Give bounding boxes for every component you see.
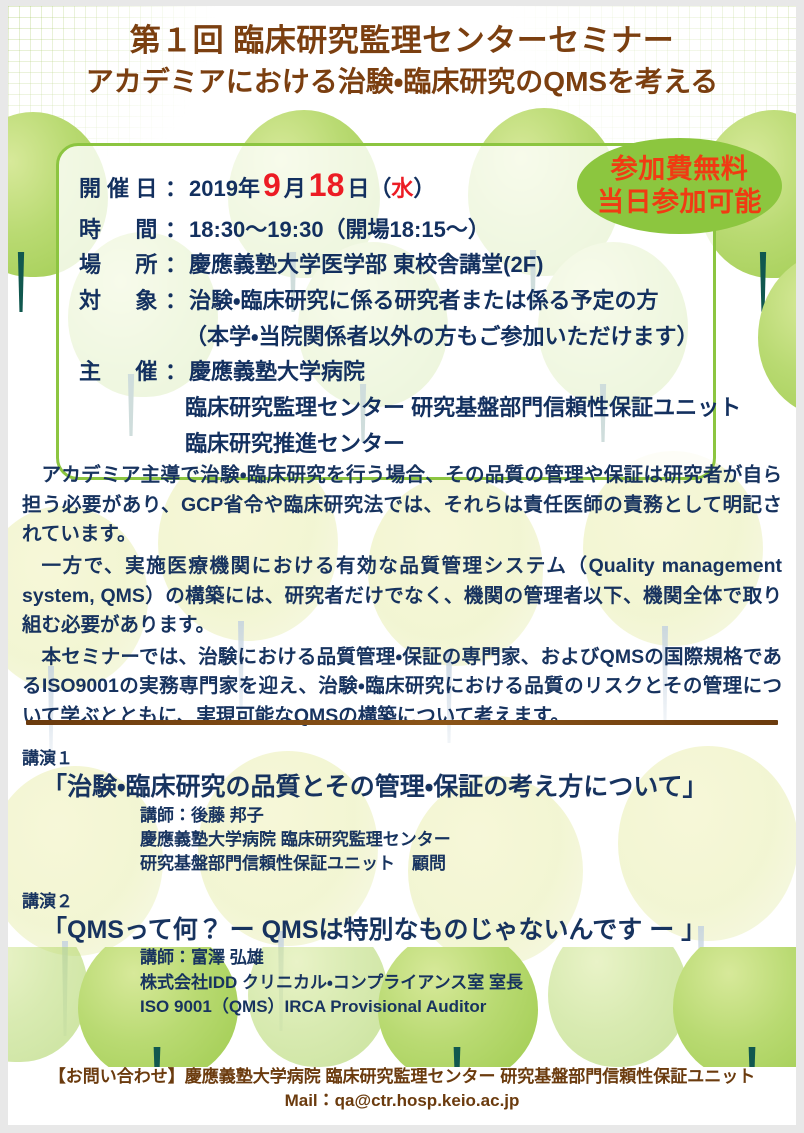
info-label-organizer: 主 催 xyxy=(79,354,165,390)
abstract-paragraph-2: 一方で、実施医療機関における有効な品質管理システム（Quality manage… xyxy=(22,552,782,641)
info-row-organizer: 主 催 ： 慶應義塾大学病院 xyxy=(59,354,713,390)
lecture-2-speaker: 講師：富澤 弘雄 xyxy=(22,946,782,970)
lecture-item-2: 講演２ 「QMSって何？ ー QMSは特別なものじゃないんです ー 」 講師：富… xyxy=(22,887,782,1020)
info-value-organizer: 慶應義塾大学病院 xyxy=(189,354,365,390)
page-subtitle: アカデミアにおける治験・臨床研究のQMSを考える xyxy=(8,65,796,99)
abstract-section: アカデミア主導で治験・臨床研究を行う場合、その品質の管理や保証は研究者が自ら担う… xyxy=(22,461,782,734)
info-value-month-number: 9 xyxy=(260,160,284,212)
info-colon-organizer: ： xyxy=(165,354,187,390)
info-value-place: 慶應義塾大学医学部 東校舎講堂(2F) xyxy=(189,247,543,283)
info-value-time: 18:30〜19:30（開場18:15〜） xyxy=(189,212,490,248)
free-admission-badge: 参加費無料 当日参加可能 xyxy=(577,138,782,234)
lecture-item-1: 講演１ 「治験・臨床研究の品質とその管理・保証の考え方について」 講師：後藤 邦… xyxy=(22,744,782,877)
info-label-date: 開催日 xyxy=(79,171,165,207)
lecture-1-speaker: 講師：後藤 邦子 xyxy=(22,804,782,828)
info-row-audience: 対 象 ： 治験・臨床研究に係る研究者または係る予定の方 xyxy=(59,283,713,319)
info-value-weekday: 水 xyxy=(391,171,413,207)
info-weekday-close: ） xyxy=(413,171,435,207)
footer-contact-line: 【お問い合わせ】慶應義塾大学病院 臨床研究監理センター 研究基盤部門信頼性保証ユ… xyxy=(8,1065,796,1089)
lecture-2-affiliation-2: ISO 9001（QMS）IRCA Provisional Auditor xyxy=(22,995,782,1019)
section-divider xyxy=(26,720,778,725)
info-colon-date: ： xyxy=(165,171,187,207)
abstract-paragraph-3: 本セミナーでは、治験における品質管理・保証の専門家、およびQMSの国際規格である… xyxy=(22,643,782,732)
info-weekday-open: （ xyxy=(369,171,391,207)
lecture-1-affiliation-1: 慶應義塾大学病院 臨床研究監理センター xyxy=(22,828,782,852)
title-block: 第１回 臨床研究監理センターセミナー アカデミアにおける治験・臨床研究のQMSを… xyxy=(8,22,796,99)
lecture-spacer xyxy=(22,877,782,887)
badge-line-fee: 参加費無料 xyxy=(611,153,749,186)
flyer-page: 第１回 臨床研究監理センターセミナー アカデミアにおける治験・臨床研究のQMSを… xyxy=(0,0,804,1133)
page-title: 第１回 臨床研究監理センターセミナー xyxy=(8,22,796,59)
info-colon-place: ： xyxy=(165,247,187,283)
info-label-time: 時 間 xyxy=(79,212,165,248)
info-value-day-number: 18 xyxy=(306,160,348,212)
lectures-section: 講演１ 「治験・臨床研究の品質とその管理・保証の考え方について」 講師：後藤 邦… xyxy=(22,744,782,1020)
info-value-organizer-2: 臨床研究監理センター 研究基盤部門信頼性保証ユニット xyxy=(185,390,741,426)
info-row-audience-note: （本学・当院関係者以外の方もご参加いただけます） xyxy=(59,319,713,355)
badge-line-walkin: 当日参加可能 xyxy=(597,186,762,219)
lecture-1-affiliation-2: 研究基盤部門信頼性保証ユニット 顧問 xyxy=(22,852,782,876)
info-row-place: 場 所 ： 慶應義塾大学医学部 東校舎講堂(2F) xyxy=(59,247,713,283)
info-value-year: 2019年 xyxy=(189,171,260,207)
lecture-1-title: 「治験・臨床研究の品質とその管理・保証の考え方について」 xyxy=(22,771,782,804)
footer-contact: 【お問い合わせ】慶應義塾大学病院 臨床研究監理センター 研究基盤部門信頼性保証ユ… xyxy=(8,1065,796,1113)
lecture-1-kicker: 講演１ xyxy=(22,744,782,769)
info-colon-audience: ： xyxy=(165,283,187,319)
info-value-day-unit: 日 xyxy=(347,171,369,207)
info-colon-time: ： xyxy=(165,212,187,248)
flyer-sheet: 第１回 臨床研究監理センターセミナー アカデミアにおける治験・臨床研究のQMSを… xyxy=(8,6,796,1125)
lecture-2-kicker: 講演２ xyxy=(22,887,782,912)
footer-mail-line: Mail：qa@ctr.hosp.keio.ac.jp xyxy=(8,1089,796,1113)
lecture-2-affiliation-1: 株式会社IDD クリニカル・コンプライアンス室 室長 xyxy=(22,971,782,995)
info-value-month-unit: 月 xyxy=(284,171,306,207)
info-label-audience: 対 象 xyxy=(79,283,165,319)
info-label-place: 場 所 xyxy=(79,247,165,283)
info-row-organizer-2: 臨床研究監理センター 研究基盤部門信頼性保証ユニット xyxy=(59,390,713,426)
info-value-organizer-3: 臨床研究推進センター xyxy=(185,426,405,462)
info-value-audience-note: （本学・当院関係者以外の方もご参加いただけます） xyxy=(185,319,698,355)
lecture-2-title: 「QMSって何？ ー QMSは特別なものじゃないんです ー 」 xyxy=(22,914,782,947)
info-row-organizer-3: 臨床研究推進センター xyxy=(59,426,713,462)
abstract-paragraph-1: アカデミア主導で治験・臨床研究を行う場合、その品質の管理や保証は研究者が自ら担う… xyxy=(22,461,782,550)
info-value-audience: 治験・臨床研究に係る研究者または係る予定の方 xyxy=(189,283,658,319)
